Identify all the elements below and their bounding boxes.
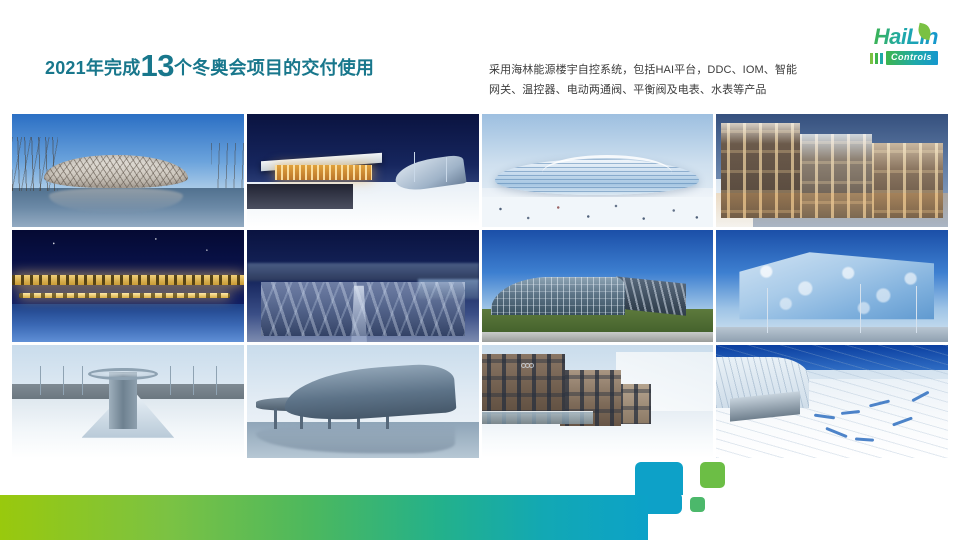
photo-ski-jump-snow: [12, 345, 244, 458]
logo-tagline: Controls: [886, 51, 938, 65]
footer-accent-square-small: [690, 497, 705, 512]
gallery-item-5[interactable]: [12, 230, 244, 343]
gallery-item-7[interactable]: [482, 230, 714, 343]
gallery-item-4[interactable]: [716, 114, 948, 227]
description-line-2: 网关、温控器、电动两通阀、平衡阀及电表、水表等产品: [489, 80, 849, 100]
footer-decoration: [0, 454, 960, 540]
page-title: 2021年完成13个冬奥会项目的交付使用: [45, 50, 374, 81]
gallery-item-1[interactable]: [12, 114, 244, 227]
description-line-1: 采用海林能源楼宇自控系统，包括HAI平台，DDC、IOM、智能: [489, 60, 849, 80]
gallery-item-10[interactable]: [247, 345, 479, 458]
photo-olympic-village-snow: [482, 345, 714, 458]
gallery-item-9[interactable]: [12, 345, 244, 458]
footer-step-shape-small: [648, 492, 682, 514]
gallery-item-2[interactable]: [247, 114, 479, 227]
photo-alpine-hotel: [716, 114, 948, 227]
footer-accent-square-large: [700, 462, 725, 488]
gallery-item-11[interactable]: [482, 345, 714, 458]
gallery-item-3[interactable]: [482, 114, 714, 227]
gallery-item-12[interactable]: [716, 345, 948, 458]
photo-village-aerial-dusk: [247, 230, 479, 343]
logo-bars-icon: [870, 53, 883, 64]
photo-speed-skating-oval: [482, 114, 714, 227]
title-prefix: 2021年完成: [45, 58, 140, 78]
photo-birds-nest: [12, 114, 244, 227]
photo-venue-night-lights: [12, 230, 244, 343]
logo-tagline-row: Controls: [840, 51, 938, 65]
footer-gradient-bar: [0, 495, 648, 540]
gallery-item-8[interactable]: [716, 230, 948, 343]
gallery-item-6[interactable]: [247, 230, 479, 343]
olympic-rings-icon: [521, 363, 535, 369]
title-suffix: 个冬奥会项目的交付使用: [174, 58, 374, 78]
photo-water-cube: [716, 230, 948, 343]
photo-shougang-big-air: [247, 345, 479, 458]
photo-cross-country-night: [247, 114, 479, 227]
photo-gallery-grid: [12, 114, 948, 458]
brand-logo: HaiLin Controls: [840, 26, 938, 68]
photo-cross-country-course: [716, 345, 948, 458]
photo-glass-curved-hall: [482, 230, 714, 343]
title-highlight-number: 13: [140, 48, 173, 83]
slide-header: 2021年完成13个冬奥会项目的交付使用 采用海林能源楼宇自控系统，包括HAI平…: [0, 0, 960, 114]
description-text: 采用海林能源楼宇自控系统，包括HAI平台，DDC、IOM、智能 网关、温控器、电…: [489, 60, 849, 100]
footer-step-shape: [635, 462, 683, 495]
